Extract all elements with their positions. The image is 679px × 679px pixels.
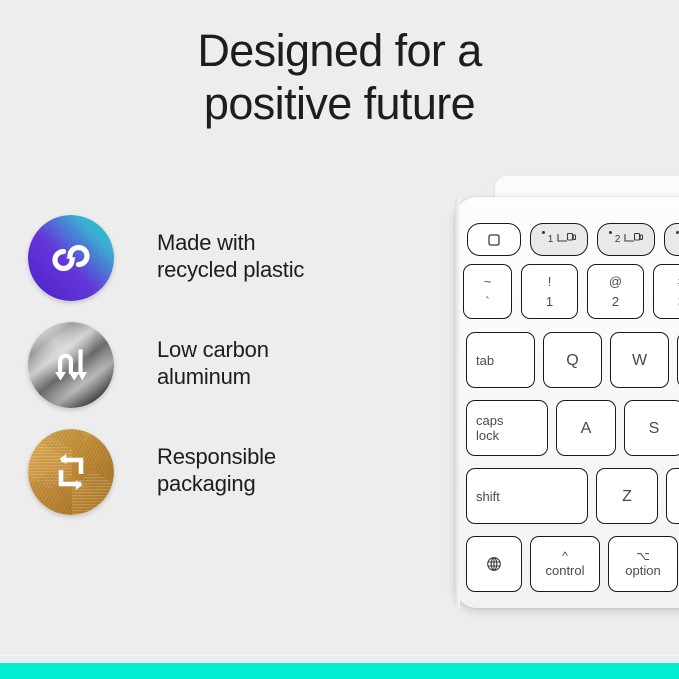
list-item-label: Made with recycled plastic: [157, 229, 304, 283]
promo-banner: Designed for a positive future: [0, 0, 679, 679]
square-outline-icon: [468, 224, 520, 255]
key-1-top: !: [548, 274, 552, 289]
key-backtick-bottom: `: [485, 294, 489, 309]
list-item: Made with recycled plastic: [28, 215, 388, 322]
list-item: Low carbon aluminum: [28, 322, 388, 429]
key-w-label: W: [611, 333, 668, 387]
list-item-label: Responsible packaging: [157, 443, 276, 497]
list-item-label: Low carbon aluminum: [157, 336, 269, 390]
key-2-top: @: [609, 274, 622, 289]
pairing-led-icon: [609, 231, 612, 234]
aluminum-down-arrows-icon: [28, 322, 114, 408]
page-title: Designed for a positive future: [0, 24, 679, 130]
key-screen[interactable]: [467, 223, 521, 256]
key-option-label: option: [625, 563, 660, 578]
caret-up-glyph: ^: [562, 550, 568, 562]
device-pair-icon: [556, 232, 576, 247]
key-backtick[interactable]: ~ `: [463, 264, 512, 319]
key-a-label: A: [557, 401, 615, 455]
key-2[interactable]: @ 2: [587, 264, 644, 319]
key-3[interactable]: # 3: [653, 264, 679, 319]
key-easyswitch-1-label: 1: [548, 234, 554, 245]
device-pair-icon: [623, 232, 643, 247]
key-q[interactable]: Q: [543, 332, 602, 388]
key-tab-label: tab: [467, 333, 534, 387]
globe-icon: [467, 537, 521, 591]
list-item: Responsible packaging: [28, 429, 388, 536]
key-easyswitch-2-label: 2: [615, 234, 621, 245]
key-backtick-top: ~: [484, 274, 492, 289]
key-1-bottom: 1: [546, 294, 553, 309]
pairing-led-icon: [676, 231, 679, 234]
key-w[interactable]: W: [610, 332, 669, 388]
key-x-label: X: [667, 469, 679, 523]
key-x[interactable]: X: [666, 468, 679, 524]
accent-band: [0, 663, 679, 679]
key-z[interactable]: Z: [596, 468, 658, 524]
recycling-loop-icon: [28, 215, 114, 301]
key-s[interactable]: S: [624, 400, 679, 456]
packaging-loop-arrow-icon: [28, 429, 114, 515]
key-s-label: S: [625, 401, 679, 455]
key-option[interactable]: ⌥ option: [608, 536, 678, 592]
feature-list: Made with recycled plastic: [28, 215, 388, 536]
keyboard-product-image: 1 2: [444, 176, 679, 618]
key-shift-label: shift: [467, 469, 587, 523]
key-tab[interactable]: tab: [466, 332, 535, 388]
key-easyswitch-3[interactable]: 3: [664, 223, 679, 256]
key-shift[interactable]: shift: [466, 468, 588, 524]
key-a[interactable]: A: [556, 400, 616, 456]
key-2-bottom: 2: [612, 294, 619, 309]
key-q-label: Q: [544, 333, 601, 387]
key-easyswitch-2[interactable]: 2: [597, 223, 655, 256]
divider: [0, 655, 679, 656]
pairing-led-icon: [542, 231, 545, 234]
key-control-label: control: [545, 563, 584, 578]
key-globe[interactable]: [466, 536, 522, 592]
key-caps-lock[interactable]: caps lock: [466, 400, 548, 456]
key-1[interactable]: ! 1: [521, 264, 578, 319]
keyboard-left-edge: [455, 197, 460, 608]
key-easyswitch-1[interactable]: 1: [530, 223, 588, 256]
option-glyph: ⌥: [636, 550, 650, 562]
key-caps-lock-label: caps lock: [467, 401, 547, 455]
key-z-label: Z: [597, 469, 657, 523]
key-control[interactable]: ^ control: [530, 536, 600, 592]
